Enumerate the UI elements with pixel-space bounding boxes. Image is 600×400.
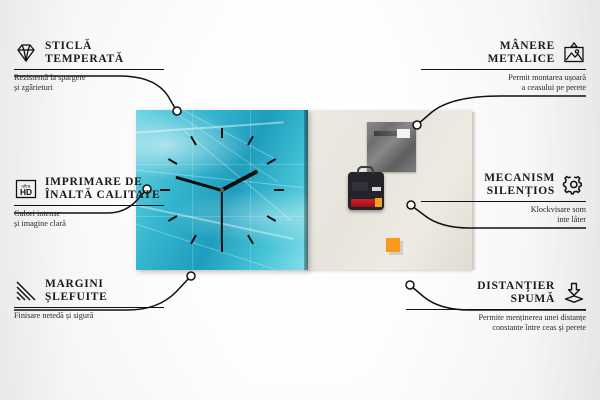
clock-hub bbox=[220, 188, 224, 192]
callout-divider bbox=[406, 309, 586, 310]
callout-header: ultra HD IMPRIMARE DE ÎNALTĂ CALITATE bbox=[14, 176, 164, 202]
callout-description: Klockvisare som inte låter bbox=[421, 205, 586, 225]
feather-streak bbox=[136, 110, 275, 159]
callout-divider bbox=[421, 69, 586, 70]
callout-divider bbox=[421, 201, 586, 202]
down-arrow-layer-icon bbox=[562, 282, 586, 304]
callout-title: DISTANȚIER SPUMĂ bbox=[477, 280, 555, 306]
callout-description: Permite menținerea unei distanțe constan… bbox=[406, 313, 586, 333]
panel-seam-h1 bbox=[136, 164, 308, 165]
clock-tick bbox=[274, 189, 284, 191]
panel-seam-v1 bbox=[192, 110, 193, 270]
callout-divider bbox=[14, 205, 164, 206]
hanging-frame-icon bbox=[562, 42, 586, 64]
callout-description: Culori intense și imagine clară bbox=[14, 209, 164, 229]
callout-header: MÂNERE METALICE bbox=[421, 40, 586, 66]
gear-icon bbox=[562, 174, 586, 196]
battery-plus-terminal bbox=[375, 198, 382, 207]
callout-title: MÂNERE METALICE bbox=[488, 40, 555, 66]
callout-title: IMPRIMARE DE ÎNALTĂ CALITATE bbox=[45, 176, 160, 202]
clock-tick bbox=[221, 128, 223, 138]
ultra-hd-icon: ultra HD bbox=[14, 178, 38, 200]
callout-high-quality-print: ultra HD IMPRIMARE DE ÎNALTĂ CALITATE Cu… bbox=[14, 176, 164, 229]
callout-header: MARGINI ȘLEFUITE bbox=[14, 278, 164, 304]
callout-divider bbox=[14, 69, 164, 70]
callout-title: STICLĂ TEMPERATĂ bbox=[45, 40, 124, 66]
polished-edge-icon bbox=[14, 280, 38, 302]
infographic-canvas: STICLĂ TEMPERATĂ Rezistentă la spargere … bbox=[0, 0, 600, 400]
callout-description: Finisare netedă și sigură bbox=[14, 311, 164, 321]
feather-streak bbox=[154, 110, 279, 183]
svg-text:HD: HD bbox=[20, 187, 32, 197]
mechanism-hook bbox=[357, 166, 374, 174]
callout-foam-spacer: DISTANȚIER SPUMĂ Permite menținerea unei… bbox=[406, 280, 586, 333]
hanger-slot-highlight bbox=[397, 129, 410, 138]
clock-mechanism bbox=[348, 172, 384, 210]
callout-polished-edges: MARGINI ȘLEFUITE Finisare netedă și sigu… bbox=[14, 278, 164, 321]
panel-seam-v2 bbox=[250, 110, 251, 270]
callout-title: MECANISM SILENȚIOS bbox=[484, 172, 555, 198]
callout-description: Permit montarea ușoară a ceasului pe per… bbox=[421, 73, 586, 93]
callout-tempered-glass: STICLĂ TEMPERATĂ Rezistentă la spargere … bbox=[14, 40, 164, 93]
callout-silent-mechanism: MECANISM SILENȚIOS Klockvisare som inte … bbox=[421, 172, 586, 225]
mechanism-label bbox=[372, 187, 381, 191]
callout-title: MARGINI ȘLEFUITE bbox=[45, 278, 107, 304]
foam-spacer bbox=[386, 238, 400, 252]
mechanism-dial bbox=[352, 182, 368, 191]
diamond-icon bbox=[14, 42, 38, 64]
callout-metal-handles: MÂNERE METALICE Permit montarea ușoară a… bbox=[421, 40, 586, 93]
callout-description: Rezistentă la spargere și zgârieturi bbox=[14, 73, 164, 93]
metal-hanger-plate bbox=[367, 122, 416, 172]
battery bbox=[351, 199, 381, 207]
second-hand bbox=[221, 190, 223, 244]
callout-divider bbox=[14, 307, 164, 308]
callout-header: MECANISM SILENȚIOS bbox=[421, 172, 586, 198]
callout-header: DISTANȚIER SPUMĂ bbox=[406, 280, 586, 306]
callout-header: STICLĂ TEMPERATĂ bbox=[14, 40, 164, 66]
